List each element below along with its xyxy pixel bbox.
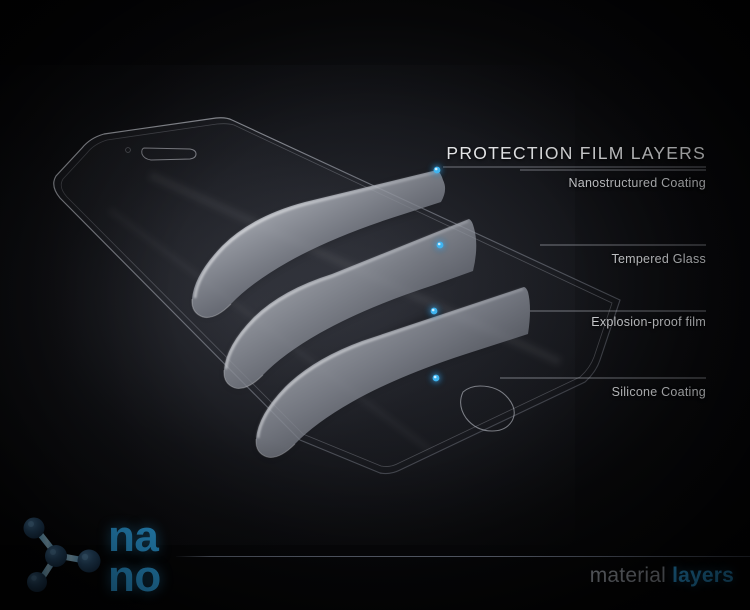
brand-line-2: no — [108, 557, 161, 597]
footer-tagline-soft: material — [590, 564, 666, 587]
footer-divider — [176, 556, 750, 557]
layer-marker-dot — [432, 237, 448, 253]
footer-tagline-bold: layers — [672, 564, 734, 587]
screenshot-canvas: PROTECTION FILM LAYERS Nanostructured Co… — [0, 0, 750, 610]
layer-marker-dot — [428, 370, 444, 386]
footer-tagline: material layers — [590, 564, 734, 588]
layer-marker-dot — [429, 162, 445, 178]
layer-marker-dot — [426, 303, 442, 319]
brand-wordmark: na no — [108, 517, 161, 598]
molecule-icon — [24, 518, 101, 593]
